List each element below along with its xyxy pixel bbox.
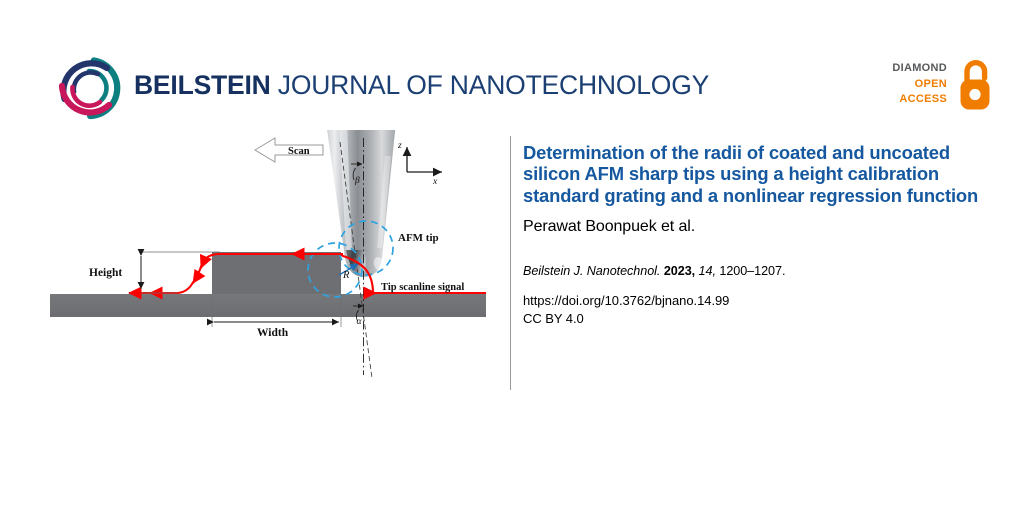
page-header: BEILSTEIN JOURNAL OF NANOTECHNOLOGY DIAM… xyxy=(0,0,1024,130)
open-access-line-open: OPEN xyxy=(875,77,947,93)
afm-tip-scanline-schematic: β α R Height xyxy=(50,130,500,390)
height-label: Height xyxy=(89,267,122,279)
tip-scanline-signal-label: Tip scanline signal xyxy=(381,282,464,293)
panel-divider xyxy=(510,136,511,390)
afm-tip-label: AFM tip xyxy=(398,232,439,244)
citation-journal: Beilstein J. Nanotechnol. xyxy=(523,264,660,278)
article-license: CC BY 4.0 xyxy=(523,311,985,326)
open-lock-icon-svg xyxy=(955,58,995,114)
citation-pages: 1200–1207. xyxy=(719,264,785,278)
article-doi-link[interactable]: https://doi.org/10.3762/bjnano.14.99 xyxy=(523,293,985,308)
open-access-line-diamond: DIAMOND xyxy=(875,61,947,77)
radius-label: R xyxy=(342,270,350,281)
graphical-abstract-figure: β α R Height xyxy=(50,130,500,390)
axis-x-label: x xyxy=(432,177,438,187)
substrate-slab xyxy=(50,294,486,317)
article-citation: Beilstein J. Nanotechnol. 2023, 14, 1200… xyxy=(523,264,985,278)
width-label: Width xyxy=(257,327,289,339)
journal-wordmark: BEILSTEIN JOURNAL OF NANOTECHNOLOGY xyxy=(134,70,709,101)
citation-year: 2023, xyxy=(664,264,695,278)
journal-wordmark-light: JOURNAL OF NANOTECHNOLOGY xyxy=(271,70,709,100)
open-lock-icon xyxy=(955,58,995,114)
open-access-line-access: ACCESS xyxy=(875,92,947,108)
article-authors: Perawat Boonpuek et al. xyxy=(523,218,985,236)
beilstein-circle-logo-svg xyxy=(55,54,123,122)
scanline-arrow-edge-upper xyxy=(201,261,204,268)
diamond-open-access-badge: DIAMOND OPEN ACCESS xyxy=(875,58,995,120)
axis-z-label: z xyxy=(397,141,402,151)
article-title: Determination of the radii of coated and… xyxy=(523,142,985,206)
alpha-angle-label: α xyxy=(357,317,363,327)
beta-angle-label: β xyxy=(354,176,360,186)
scan-label: Scan xyxy=(288,146,310,157)
open-access-text: DIAMOND OPEN ACCESS xyxy=(875,61,947,108)
beilstein-circle-logo xyxy=(55,54,123,122)
grating-step-block xyxy=(212,252,341,294)
article-info-panel: Determination of the radii of coated and… xyxy=(523,142,985,326)
citation-volume: 14, xyxy=(699,264,716,278)
journal-wordmark-bold: BEILSTEIN xyxy=(134,70,271,100)
